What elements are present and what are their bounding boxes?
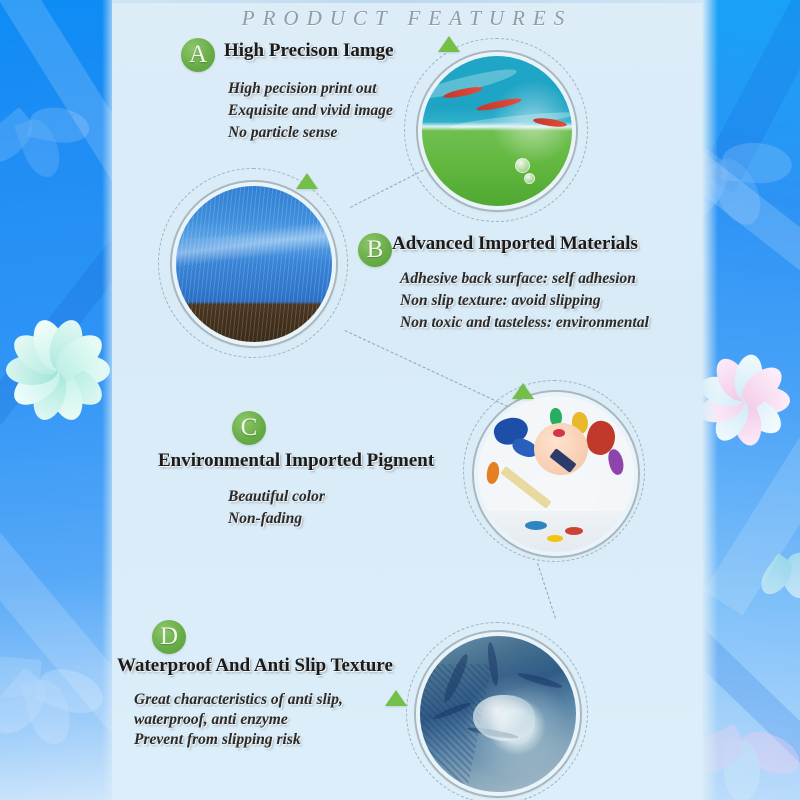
left-decorative-border (0, 0, 118, 800)
feature-a-line-2: Exquisite and vivid image (228, 100, 393, 122)
page-title: PRODUCT FEATURES (112, 6, 702, 31)
feature-b-line-1: Adhesive back surface: self adhesion (400, 268, 649, 290)
feature-d-line-3: Prevent from slipping risk (134, 730, 343, 750)
water-droplet-shape (473, 695, 535, 741)
badge-letter-c: C (232, 411, 266, 445)
photo-water-droplet (416, 632, 580, 796)
panel-top-rule (112, 0, 702, 3)
feature-a-heading: High Precison Iamge (224, 40, 394, 62)
photo-baby-paint (474, 392, 638, 556)
photo-a-image (422, 56, 572, 206)
photo-d-image (420, 636, 576, 792)
up-triangle-marker-a (438, 36, 460, 52)
feature-b-line-2: Non slip texture: avoid slipping (400, 290, 649, 312)
feature-b-heading: Advanced Imported Materials (392, 233, 638, 255)
up-triangle-marker-b (296, 173, 318, 189)
feature-d-line-2: waterproof, anti enzyme (134, 710, 343, 730)
feature-a-line-3: No particle sense (228, 122, 393, 144)
fish-shape (476, 96, 522, 112)
photo-blue-fabric-texture (172, 182, 336, 346)
feature-c-line-2: Non-fading (228, 508, 325, 530)
bubble-shape (524, 173, 535, 184)
decor-band (0, 0, 118, 195)
feature-d-line-1: Great characteristics of anti slip, (134, 690, 343, 710)
bubble-shape (515, 158, 530, 173)
fish-shape (533, 117, 568, 129)
feature-d-heading: Waterproof And Anti Slip Texture (117, 655, 393, 677)
badge-letter-d: D (152, 620, 186, 654)
feature-a-line-1: High pecision print out (228, 78, 393, 100)
up-triangle-marker-d (385, 690, 407, 706)
right-border-fade (702, 0, 718, 800)
badge-letter-a: A (181, 38, 215, 72)
floor-mat (478, 511, 634, 552)
up-triangle-marker-c (512, 383, 534, 399)
feature-d-lines: Great characteristics of anti slip, wate… (134, 690, 343, 750)
feature-b-lines: Adhesive back surface: self adhesion Non… (400, 268, 649, 334)
photo-b-image (176, 186, 332, 342)
feature-b-line-3: Non toxic and tasteless: environmental (400, 312, 649, 334)
badge-letter-b: B (358, 233, 392, 267)
infographic-canvas: PRODUCT FEATURES A High Precison Iamge H… (0, 0, 800, 800)
feature-c-lines: Beautiful color Non-fading (228, 486, 325, 530)
photo-fish-grass-mat (418, 52, 576, 210)
photo-c-image (478, 396, 634, 552)
feature-c-heading: Environmental Imported Pigment (158, 450, 434, 472)
feature-a-lines: High pecision print out Exquisite and vi… (228, 78, 393, 144)
feature-c-line-1: Beautiful color (228, 486, 325, 508)
